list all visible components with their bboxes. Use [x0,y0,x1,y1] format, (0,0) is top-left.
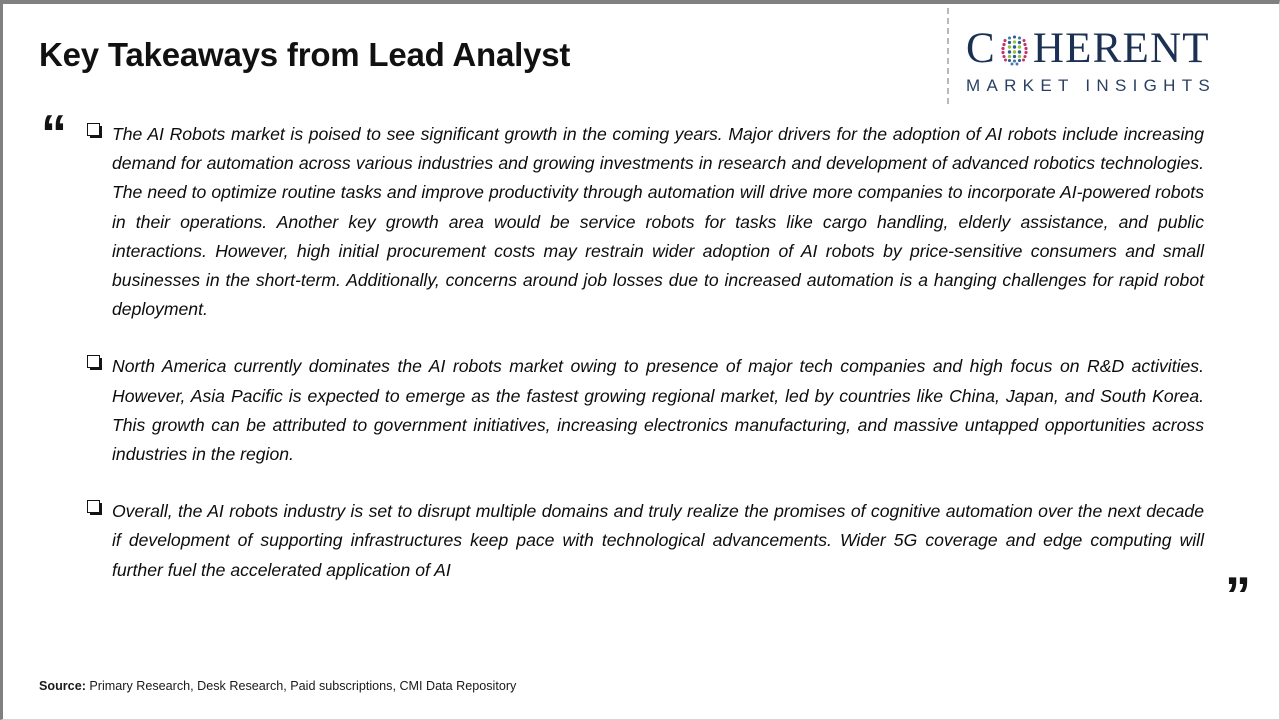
list-item: The AI Robots market is poised to see si… [87,120,1204,324]
takeaway-bullet-list: The AI Robots market is poised to see si… [87,120,1204,585]
logo-letter-c: C [966,25,996,72]
logo-wordmark: C [966,26,1266,72]
logo-tagline: MARKET INSIGHTS [966,76,1266,96]
square-bullet-icon [87,123,103,139]
list-item-text: The AI Robots market is poised to see si… [112,124,1204,319]
closing-quote-mark: ” [1225,570,1251,622]
source-value: Primary Research, Desk Research, Paid su… [86,679,516,693]
source-line: Source: Primary Research, Desk Research,… [39,679,516,693]
square-bullet-icon [87,355,103,371]
company-logo: C [966,26,1266,104]
page-title: Key Takeaways from Lead Analyst [39,36,570,74]
square-bullet-icon [87,500,103,516]
list-item-text: North America currently dominates the AI… [112,356,1204,464]
list-item-text: Overall, the AI robots industry is set t… [112,501,1204,579]
opening-quote-mark: “ [41,108,67,160]
header-divider [947,8,949,104]
quote-body: “ The AI Robots market is poised to see … [3,108,1280,668]
slide-canvas: Key Takeaways from Lead Analyst C [0,0,1280,720]
slide-footer: Source: Primary Research, Desk Research,… [3,667,1280,719]
list-item: Overall, the AI robots industry is set t… [87,497,1204,585]
source-label: Source: [39,679,86,693]
dotted-globe-icon [997,32,1032,67]
slide-header: Key Takeaways from Lead Analyst C [3,4,1280,108]
logo-letters-rest: HERENT [1033,25,1210,72]
list-item: North America currently dominates the AI… [87,352,1204,469]
